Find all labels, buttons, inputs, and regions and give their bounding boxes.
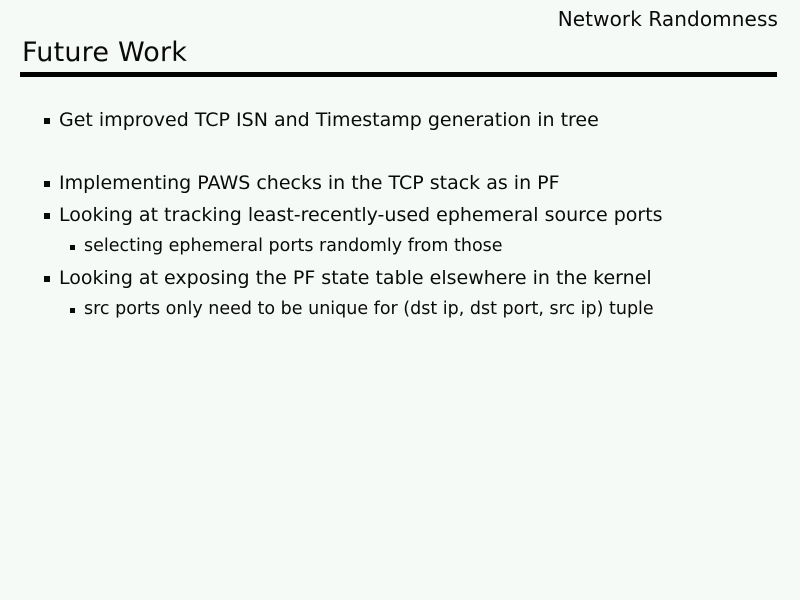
title-divider [20, 72, 777, 77]
list-item-label: Looking at tracking least-recently-used … [59, 199, 663, 231]
list-item-label: src ports only need to be unique for (ds… [84, 294, 654, 325]
list-item: Get improved TCP ISN and Timestamp gener… [0, 104, 800, 136]
square-bullet-icon [44, 118, 50, 124]
list-item: src ports only need to be unique for (ds… [0, 294, 800, 325]
list-item-label: selecting ephemeral ports randomly from … [84, 231, 503, 262]
list-item-label: Implementing PAWS checks in the TCP stac… [59, 167, 560, 199]
list-item: selecting ephemeral ports randomly from … [0, 231, 800, 262]
list-item-label: Looking at exposing the PF state table e… [59, 262, 652, 294]
square-bullet-small-icon [70, 245, 75, 250]
list-item-label: Get improved TCP ISN and Timestamp gener… [59, 104, 599, 136]
bullet-list: Get improved TCP ISN and Timestamp gener… [0, 104, 800, 325]
presentation-slide: Network Randomness Future Work Get impro… [0, 0, 800, 600]
square-bullet-small-icon [70, 308, 75, 313]
square-bullet-icon [44, 213, 50, 219]
page-title: Future Work [22, 36, 187, 70]
list-item: Looking at tracking least-recently-used … [0, 199, 800, 231]
list-item: Looking at exposing the PF state table e… [0, 262, 800, 294]
square-bullet-icon [44, 276, 50, 282]
square-bullet-icon [44, 181, 50, 187]
slide-header-label: Network Randomness [558, 6, 778, 32]
list-item: Implementing PAWS checks in the TCP stac… [0, 167, 800, 199]
